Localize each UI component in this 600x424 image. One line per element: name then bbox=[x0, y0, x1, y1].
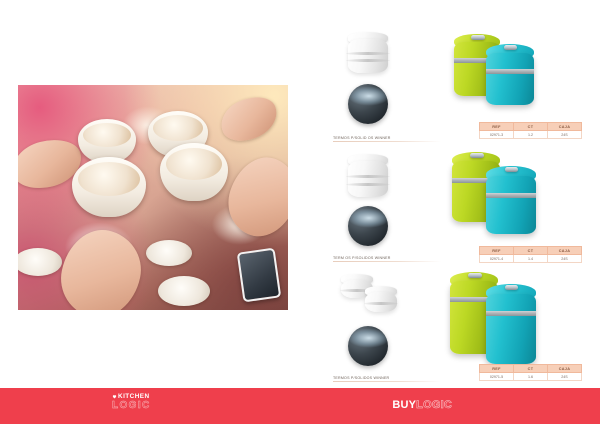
table-header-row: REF CT CAJA bbox=[480, 123, 582, 131]
catalog-page: TERMOS P/SOLID OS WINNER REF CT CAJA 029… bbox=[0, 0, 600, 424]
hand-right bbox=[219, 149, 288, 245]
product-3-caption-rule bbox=[333, 381, 441, 382]
hero-photo bbox=[18, 85, 288, 310]
thermos-band bbox=[486, 69, 534, 74]
col-ct: CT bbox=[514, 365, 548, 373]
thermos-body bbox=[486, 176, 536, 234]
cell-caja: 24S bbox=[548, 131, 582, 139]
logic-label: LOGIC bbox=[112, 401, 151, 411]
kitchen-logic-logo: KITCHEN LOGIC bbox=[112, 394, 151, 411]
container-ring bbox=[346, 175, 390, 178]
buy-label: BUY bbox=[392, 399, 416, 411]
buy-logic-logo: BUYLOGIC bbox=[392, 400, 452, 411]
cell-caja: 24S bbox=[548, 255, 582, 263]
latte-foam bbox=[78, 162, 140, 196]
dark-lid-render bbox=[348, 206, 388, 246]
col-ref: REF bbox=[480, 247, 514, 255]
hand-upper-right bbox=[215, 90, 284, 149]
white-container bbox=[346, 154, 390, 200]
product-2-white-render bbox=[330, 150, 430, 250]
dark-lid-render bbox=[348, 326, 388, 366]
cell-caja: 24S bbox=[548, 373, 582, 381]
cell-ct: 1.2 bbox=[514, 131, 548, 139]
product-1-white-render bbox=[330, 28, 430, 128]
product-2-spec-table: REF CT CAJA 02971-4 1.4 24S bbox=[479, 246, 582, 263]
container-ring bbox=[364, 302, 398, 305]
latte-foam bbox=[153, 115, 203, 141]
thermos-teal bbox=[486, 166, 536, 236]
heart-icon bbox=[112, 394, 117, 399]
thermos-body bbox=[486, 294, 536, 364]
product-3-spec-table: REF CT CAJA 02971-5 1.6 24S bbox=[479, 364, 582, 381]
saucer-right bbox=[146, 240, 192, 266]
table-header-row: REF CT CAJA bbox=[480, 247, 582, 255]
product-1-spec-table: REF CT CAJA 02971-3 1.2 24S bbox=[479, 122, 582, 139]
hero-photo-image bbox=[18, 85, 288, 310]
product-2-caption: TERM OS P/SOLIDOS WINNER bbox=[333, 256, 441, 260]
product-1-caption-rule bbox=[333, 141, 441, 142]
white-container bbox=[346, 32, 390, 76]
container-body bbox=[348, 161, 388, 197]
thermos-teal bbox=[486, 44, 534, 108]
col-caja: CAJA bbox=[548, 247, 582, 255]
product-2-caption-rule bbox=[333, 261, 441, 262]
col-caja: CAJA bbox=[548, 123, 582, 131]
col-ct: CT bbox=[514, 123, 548, 131]
thermos-teal bbox=[486, 284, 536, 366]
table-row: 02971-3 1.2 24S bbox=[480, 131, 582, 139]
table-row: 02971-5 1.6 24S bbox=[480, 373, 582, 381]
cell-ref: 02971-3 bbox=[480, 131, 514, 139]
container-body bbox=[348, 39, 388, 73]
col-ref: REF bbox=[480, 123, 514, 131]
latte-foam bbox=[83, 123, 131, 147]
container-ring bbox=[346, 52, 390, 55]
product-3-color-render bbox=[448, 270, 588, 370]
product-2-color-render bbox=[448, 148, 588, 248]
white-container-front bbox=[364, 286, 398, 314]
thermos-clip bbox=[504, 45, 517, 50]
thermos-band bbox=[486, 311, 536, 316]
cell-ref: 02971-5 bbox=[480, 373, 514, 381]
latte-foam bbox=[166, 148, 222, 180]
coffee-cup-center bbox=[72, 157, 146, 217]
thermos-clip bbox=[470, 153, 484, 158]
thermos-clip bbox=[471, 35, 485, 40]
product-1-color-render bbox=[448, 26, 588, 126]
container-ring bbox=[346, 183, 390, 186]
thermos-clip bbox=[505, 285, 518, 290]
buy-logic-label: LOGIC bbox=[416, 399, 452, 411]
product-3-white-render bbox=[330, 272, 430, 372]
cell-ct: 1.6 bbox=[514, 373, 548, 381]
cell-ref: 02971-4 bbox=[480, 255, 514, 263]
coffee-cup-right bbox=[160, 143, 228, 201]
product-3-caption: TERMOS P/SOLIDOS WINNER bbox=[333, 376, 441, 380]
thermos-clip bbox=[468, 273, 482, 278]
thermos-band bbox=[486, 193, 536, 198]
col-ct: CT bbox=[514, 247, 548, 255]
cell-ct: 1.4 bbox=[514, 255, 548, 263]
table-header-row: REF CT CAJA bbox=[480, 365, 582, 373]
thermos-body bbox=[486, 53, 534, 105]
saucer-center bbox=[158, 276, 210, 306]
saucer-left bbox=[18, 248, 62, 276]
smartphone bbox=[237, 248, 282, 303]
col-ref: REF bbox=[480, 365, 514, 373]
dark-lid-render bbox=[348, 84, 388, 124]
table-row: 02971-4 1.4 24S bbox=[480, 255, 582, 263]
thermos-clip bbox=[505, 167, 518, 172]
product-1-caption: TERMOS P/SOLID OS WINNER bbox=[333, 136, 441, 140]
page-footer: KITCHEN LOGIC BUYLOGIC bbox=[0, 388, 600, 424]
container-ring bbox=[346, 59, 390, 62]
hand-lower-left bbox=[54, 223, 149, 310]
col-caja: CAJA bbox=[548, 365, 582, 373]
